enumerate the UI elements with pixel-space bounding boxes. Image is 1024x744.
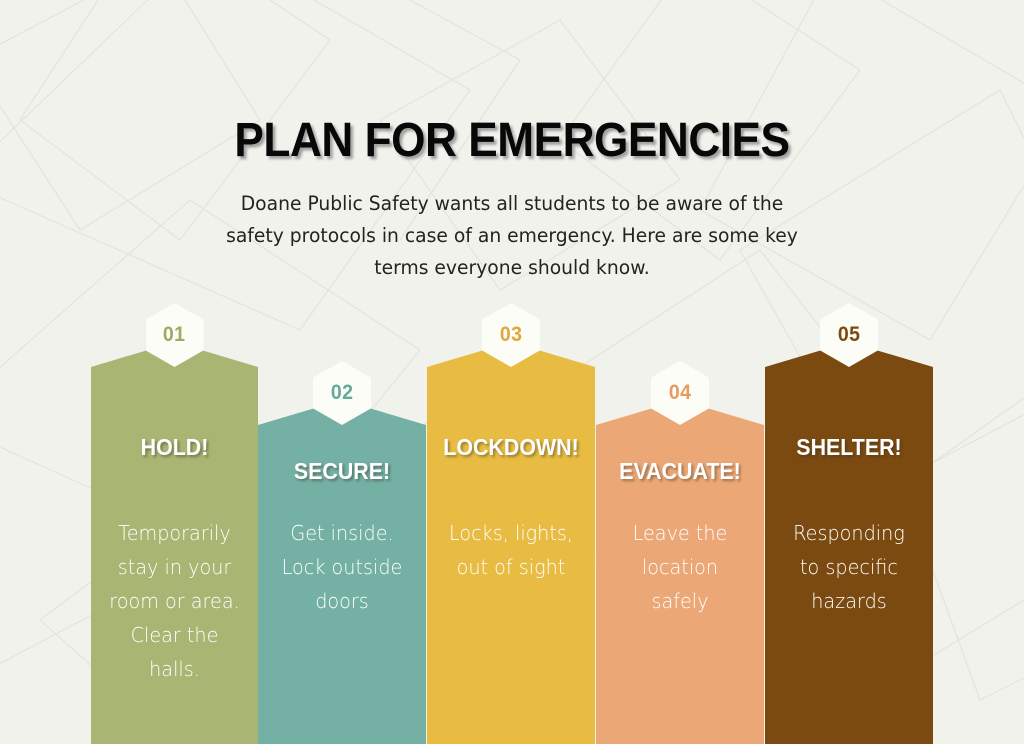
step-body-3: Locks, lights, out of sight bbox=[430, 516, 591, 584]
step-number-5: 05 bbox=[838, 323, 861, 347]
step-body-2: Get inside. Lock outside doors bbox=[261, 516, 422, 618]
step-number-1: 01 bbox=[163, 323, 186, 347]
page-title: PLAN FOR EMERGENCIES bbox=[41, 113, 983, 168]
step-column-4[interactable]: 04 EVACUATE! Leave the location safely bbox=[596, 400, 764, 744]
step-body-5: Responding to specific hazards bbox=[768, 516, 929, 618]
step-number-4: 04 bbox=[669, 381, 692, 405]
step-body-1: Temporarily stay in your room or area. C… bbox=[94, 516, 254, 686]
step-column-1[interactable]: 01 HOLD! Temporarily stay in your room o… bbox=[91, 342, 258, 744]
page-subtitle: Doane Public Safety wants all students t… bbox=[212, 188, 811, 284]
step-number-3: 03 bbox=[500, 323, 523, 347]
step-heading-5: SHELTER! bbox=[771, 434, 927, 461]
step-heading-2: SECURE! bbox=[264, 458, 420, 485]
step-heading-1: HOLD! bbox=[97, 434, 252, 461]
step-number-2: 02 bbox=[331, 381, 354, 405]
step-heading-4: EVACUATE! bbox=[602, 458, 758, 485]
step-column-2[interactable]: 02 SECURE! Get inside. Lock outside door… bbox=[258, 400, 426, 744]
step-body-4: Leave the location safely bbox=[599, 516, 760, 618]
step-heading-3: LOCKDOWN! bbox=[433, 434, 589, 461]
step-column-5[interactable]: 05 SHELTER! Responding to specific hazar… bbox=[765, 342, 933, 744]
step-column-3[interactable]: 03 LOCKDOWN! Locks, lights, out of sight bbox=[427, 342, 595, 744]
